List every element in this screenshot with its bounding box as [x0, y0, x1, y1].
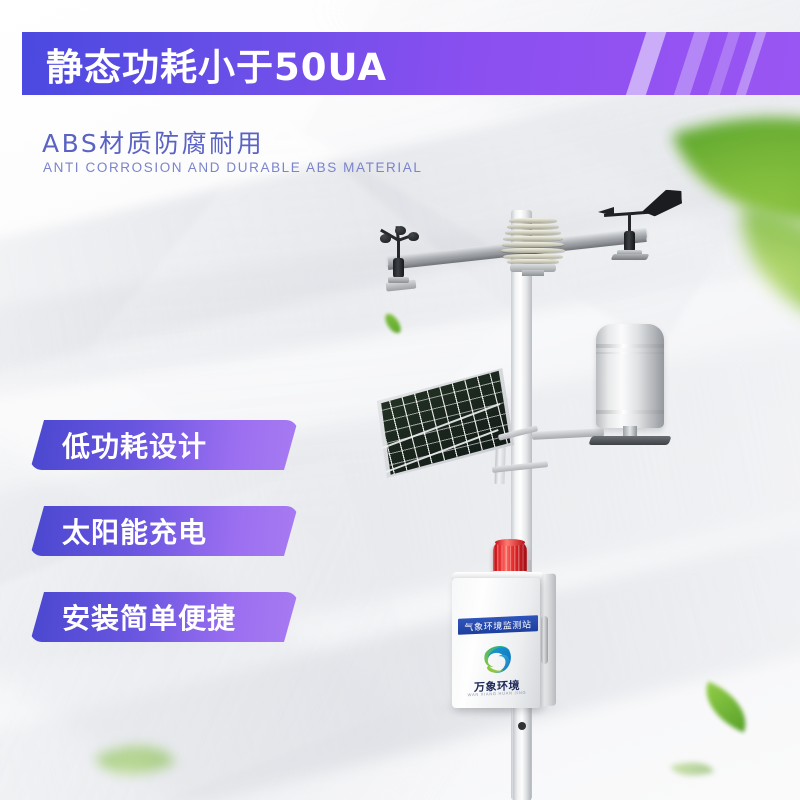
vane-mount-plate	[611, 254, 650, 260]
beacon-top-cap	[495, 539, 525, 546]
control-box-label-text: 气象环境监测站	[464, 617, 531, 633]
control-box-hinge	[541, 616, 548, 664]
shield-foot	[522, 270, 544, 276]
wind-vane-icon	[598, 198, 678, 260]
anemometer-cup	[408, 232, 419, 241]
radiation-shield-icon	[500, 218, 566, 268]
rain-gauge-ring	[596, 344, 664, 348]
shield-disc	[503, 236, 563, 241]
rain-gauge-icon	[596, 318, 664, 436]
shield-disc	[509, 218, 557, 223]
shield-disc	[502, 242, 564, 247]
anemometer-base	[388, 277, 409, 283]
globe-swoosh-icon	[480, 641, 514, 676]
rain-gauge-ring	[596, 410, 664, 414]
anemometer-cup	[395, 226, 406, 235]
shield-disc	[507, 224, 559, 229]
rain-gauge-base-plate	[588, 436, 671, 445]
weather-station-product: 气象环境监测站	[0, 0, 800, 800]
anemometer-body	[393, 258, 404, 278]
mast-hole	[518, 722, 526, 730]
vane-tail-fin	[641, 189, 682, 217]
anemometer-stem	[397, 238, 400, 260]
shield-disc	[501, 248, 565, 253]
brand-logo: 万象环境 WAN XIANG HUAN JING	[466, 641, 528, 704]
anemometer-cup	[380, 234, 391, 243]
rain-gauge-ring	[596, 352, 664, 354]
anemometer-icon	[378, 222, 422, 282]
solar-panel-icon	[368, 368, 514, 478]
vane-body	[624, 231, 635, 252]
shield-disc	[505, 230, 561, 235]
product-poster: 静态功耗小于50UA ABS材质防腐耐用 ANTI CORROSION AND …	[0, 0, 800, 800]
